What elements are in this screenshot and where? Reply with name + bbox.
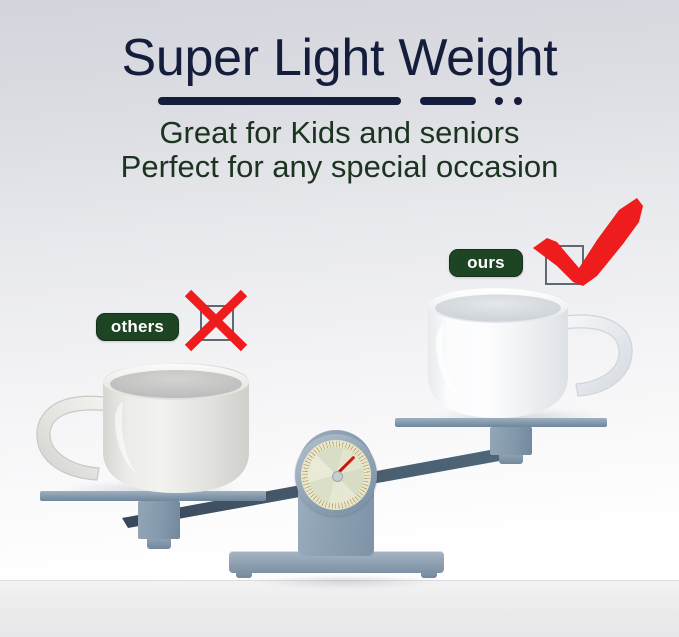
title-divider	[0, 95, 679, 107]
others-pan-post	[138, 501, 180, 539]
ours-pan-post	[490, 427, 532, 455]
subtitle: Great for Kids and seniors Perfect for a…	[0, 116, 679, 184]
scale-ground-shadow	[255, 578, 435, 589]
others-cup	[25, 358, 275, 498]
divider-short-bar	[420, 97, 476, 105]
divider-long-bar	[158, 97, 401, 105]
badge-others: others	[96, 313, 179, 341]
scale-dial	[295, 434, 377, 516]
page-title: Super Light Weight	[0, 28, 679, 88]
ours-pan-nub	[499, 455, 523, 464]
subtitle-line-1: Great for Kids and seniors	[159, 115, 519, 150]
others-pan-nub	[147, 539, 171, 549]
divider-dot-2	[514, 97, 522, 105]
badge-ours: ours	[449, 249, 523, 277]
product-infographic-poster: Super Light Weight Great for Kids and se…	[0, 0, 679, 637]
check-mark-icon	[527, 196, 645, 288]
ours-cup	[410, 284, 650, 424]
divider-dot-1	[495, 97, 503, 105]
subtitle-line-2: Perfect for any special occasion	[0, 150, 679, 184]
dial-face	[301, 440, 371, 510]
dial-hub	[332, 471, 343, 482]
cross-mark-icon	[184, 290, 248, 352]
divider-dots	[495, 97, 522, 105]
